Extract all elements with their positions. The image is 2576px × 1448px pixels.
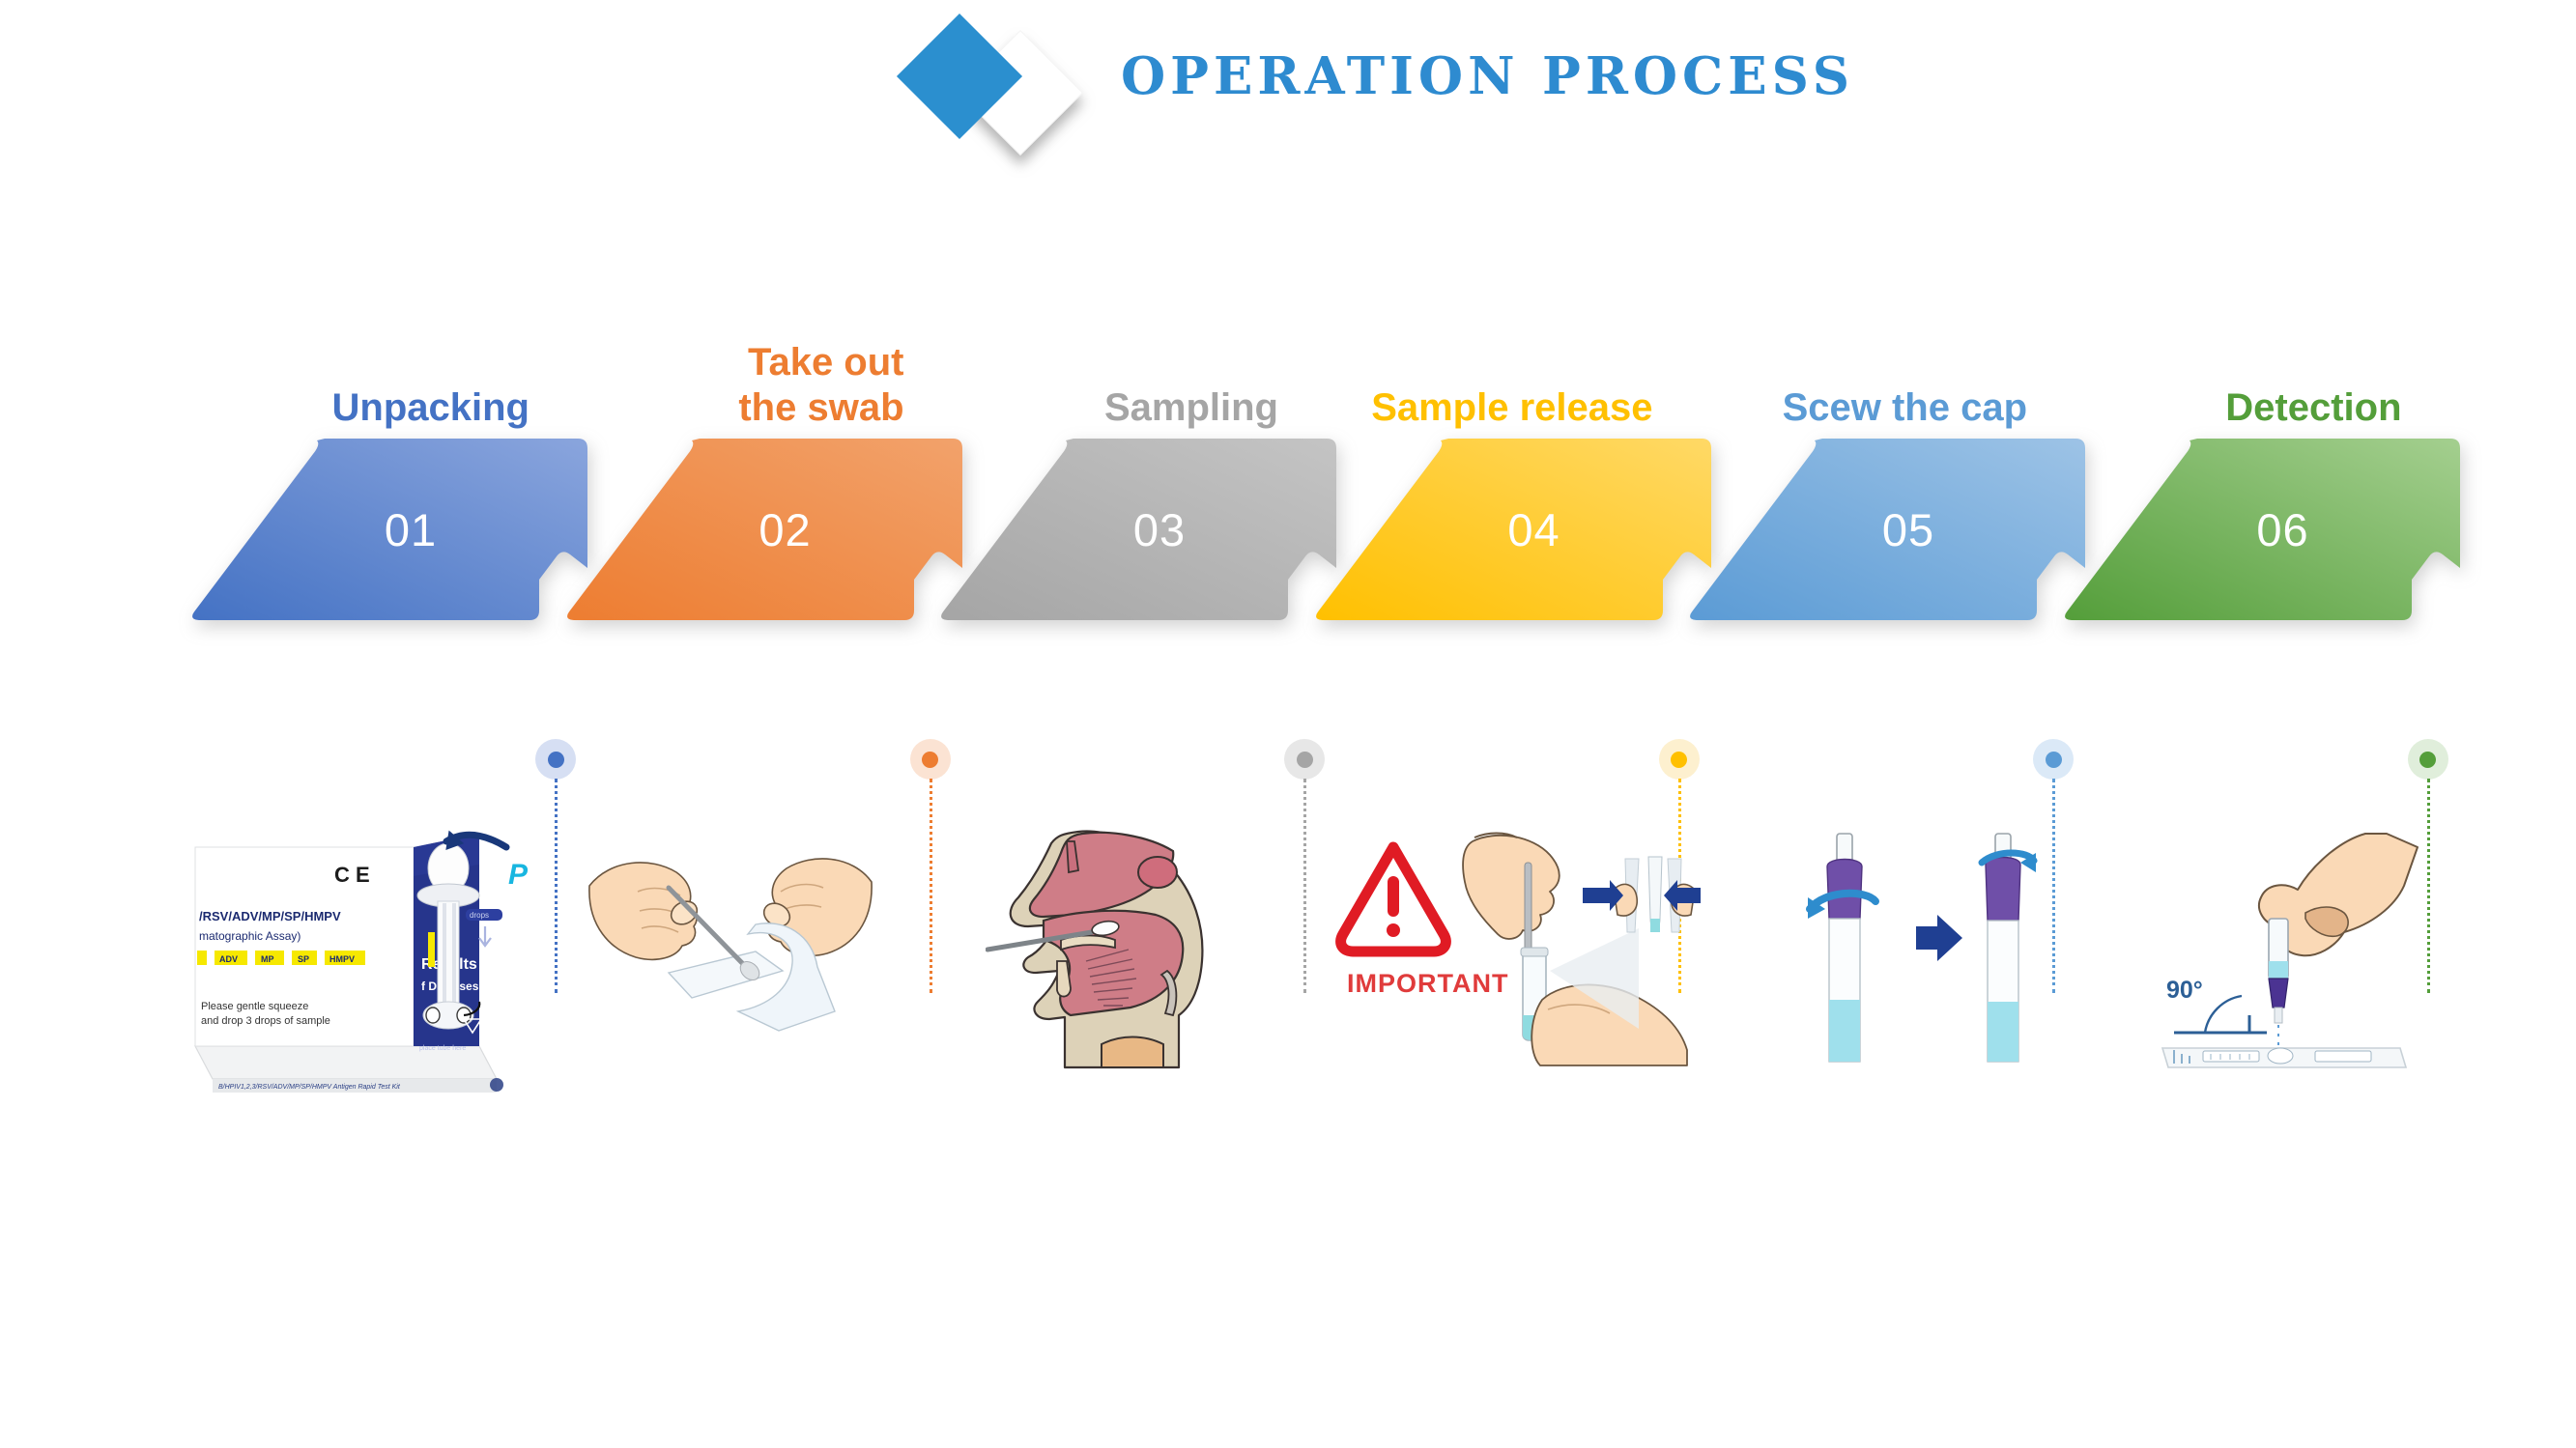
step-label-06: Detection [2225,385,2401,430]
squeeze-inset [1583,857,1701,932]
svg-text:1: 1 [479,1029,486,1043]
figure-screw-cap [1792,826,2063,1145]
step-label-01: Unpacking [332,385,530,430]
svg-text:MP: MP [261,954,274,964]
step-label-03: Sampling [1104,385,1278,430]
step-arrow-05[interactable] [1677,433,2093,626]
kit-place-tube-text: place tube here [419,1045,466,1052]
slide-root: OPERATION PROCESS Unpacking01Take out th… [0,0,2576,1448]
tube-before [1808,834,1875,1062]
svg-text:drops: drops [470,911,489,920]
process-steps: Unpacking01Take out the swab02Sampling03… [0,328,2576,763]
step-arrow-03[interactable] [929,433,1344,626]
angle-label: 90° [2166,977,2203,1004]
step-label-04: Sample release [1371,385,1652,430]
step-dot-06 [2408,739,2448,780]
process-step-06[interactable]: Detection06 [2052,328,2468,763]
process-arrow-icon [1916,915,1962,961]
important-caption: IMPORTANT [1347,969,1508,998]
ce-mark-text: C E [334,863,370,887]
page-title: OPERATION PROCESS [1121,46,1854,106]
warning-triangle-icon [1341,847,1446,951]
slide-header: OPERATION PROCESS [0,0,2576,174]
kit-assay-line: matographic Assay) [199,929,301,943]
kit-badges: ADV MP SP HMPV [197,951,365,965]
kit-product-line: /RSV/ADV/MP/SP/HMPV [199,909,341,923]
test-cassette [2162,1048,2406,1067]
kit-bottom-strip-text: B/HPIV1,2,3/RSV/ADV/MP/SP/HMPV Antigen R… [218,1084,401,1091]
process-step-03[interactable]: Sampling03 [929,328,1344,763]
step-label-05: Scew the cap [1783,385,2027,430]
figure-row: B/HPIV1,2,3/RSV/ADV/MP/SP/HMPV Antigen R… [0,826,2576,1145]
figure-nasal-anatomy [986,826,1256,1145]
process-step-04[interactable]: Sample release04 [1303,328,1719,763]
tube-after [1982,834,2036,1062]
process-step-01[interactable]: Unpacking01 [180,328,595,763]
step-arrow-06[interactable] [2052,433,2468,626]
kit-instruction-line-1: Please gentle squeeze [201,1001,308,1012]
process-step-02[interactable]: Take out the swab02 [555,328,970,763]
step-arrow-01[interactable] [180,433,595,626]
step-label-02: Take out the swab [738,340,903,430]
step-arrow-02[interactable] [555,433,970,626]
peel-off-text: Peel off [508,859,528,891]
figure-open-swab [576,826,885,1145]
svg-text:ADV: ADV [219,954,238,964]
figure-detection: 90° [2145,826,2435,1145]
figure-test-kit-box: B/HPIV1,2,3/RSV/ADV/MP/SP/HMPV Antigen R… [189,826,528,1145]
diamond-logo [908,21,1092,152]
kit-instruction-line-2: and drop 3 drops of sample [201,1015,330,1027]
step-arrow-04[interactable] [1303,433,1719,626]
figure-sample-release: IMPORTANT [1333,826,1701,1145]
svg-text:SP: SP [298,954,309,964]
svg-text:HMPV: HMPV [329,954,355,964]
process-step-05[interactable]: Scew the cap05 [1677,328,2093,763]
